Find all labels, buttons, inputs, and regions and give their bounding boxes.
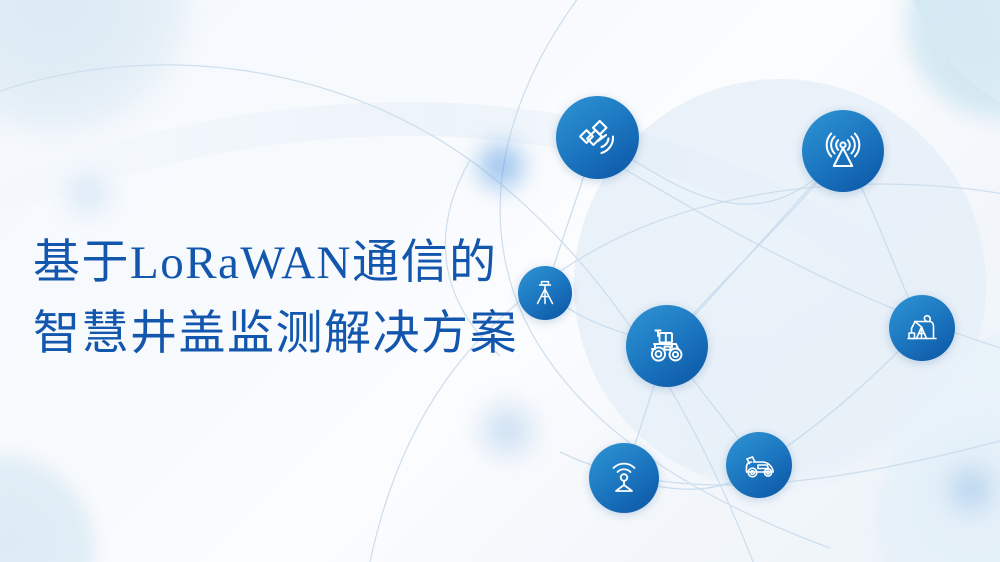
satellite-dish-icon bbox=[574, 114, 622, 162]
node-wireless-sensor[interactable] bbox=[589, 443, 659, 513]
corner-wash-bottom-right bbox=[886, 320, 1000, 562]
node-radio-tower[interactable] bbox=[802, 110, 884, 192]
background-blob-top-left bbox=[0, 0, 190, 135]
slide-canvas: 基于LoRaWAN通信的 智慧井盖监测解决方案 bbox=[0, 0, 1000, 562]
node-satellite-dish[interactable] bbox=[556, 96, 639, 179]
node-oil-pumpjack[interactable] bbox=[889, 295, 955, 361]
glow-dot-lower-center bbox=[473, 396, 541, 464]
title-line-secondary: 智慧井盖监测解决方案 bbox=[33, 299, 593, 370]
page-title: 基于LoRaWAN通信的 智慧井盖监测解决方案 bbox=[33, 228, 593, 371]
background-blob-bottom-left bbox=[0, 455, 95, 562]
background-blob-bottom-right bbox=[880, 410, 1000, 562]
harvester-icon bbox=[740, 446, 778, 484]
radio-tower-icon bbox=[820, 128, 866, 174]
title-line-primary: 基于LoRaWAN通信的 bbox=[33, 228, 593, 299]
oil-pumpjack-icon bbox=[903, 309, 941, 347]
glow-dot-bottom-right bbox=[942, 460, 1000, 518]
tractor-icon bbox=[643, 322, 691, 370]
node-harvester[interactable] bbox=[726, 432, 792, 498]
glow-dot-upper-center bbox=[470, 135, 532, 197]
wireless-sensor-icon bbox=[604, 458, 644, 498]
glow-dot-left bbox=[62, 168, 114, 220]
node-tractor[interactable] bbox=[626, 305, 708, 387]
background-blob-top-right bbox=[905, 0, 1000, 120]
corner-wash-top-right bbox=[905, 0, 1000, 120]
